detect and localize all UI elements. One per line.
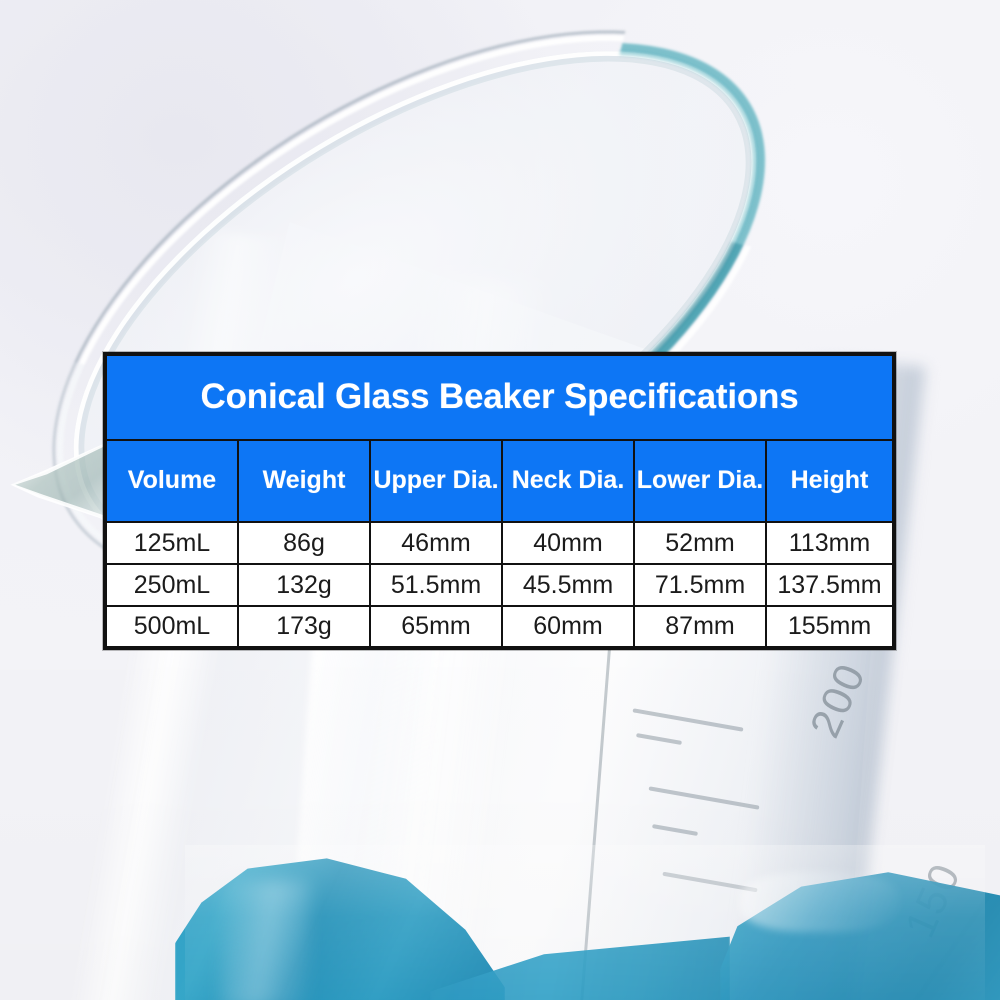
table-row: 500mL 173g 65mm 60mm 87mm 155mm bbox=[105, 606, 894, 648]
cell-neck-dia: 45.5mm bbox=[502, 564, 634, 606]
table-title-row: Conical Glass Beaker Specifications bbox=[105, 354, 894, 440]
table-row: 125mL 86g 46mm 40mm 52mm 113mm bbox=[105, 522, 894, 564]
cell-height: 137.5mm bbox=[766, 564, 894, 606]
cell-neck-dia: 60mm bbox=[502, 606, 634, 648]
cell-lower-dia: 71.5mm bbox=[634, 564, 766, 606]
cell-volume: 125mL bbox=[105, 522, 238, 564]
cell-upper-dia: 65mm bbox=[370, 606, 502, 648]
specifications-table: Conical Glass Beaker Specifications Volu… bbox=[103, 352, 896, 650]
cell-height: 155mm bbox=[766, 606, 894, 648]
cell-weight: 86g bbox=[238, 522, 370, 564]
column-header-lower-dia: Lower Dia. bbox=[634, 440, 766, 522]
blue-glove-left-highlight bbox=[220, 880, 310, 1000]
table-title: Conical Glass Beaker Specifications bbox=[105, 354, 894, 440]
cell-height: 113mm bbox=[766, 522, 894, 564]
cell-volume: 250mL bbox=[105, 564, 238, 606]
column-header-neck-dia: Neck Dia. bbox=[502, 440, 634, 522]
cell-weight: 132g bbox=[238, 564, 370, 606]
cell-lower-dia: 52mm bbox=[634, 522, 766, 564]
table-row: 250mL 132g 51.5mm 45.5mm 71.5mm 137.5mm bbox=[105, 564, 894, 606]
cell-lower-dia: 87mm bbox=[634, 606, 766, 648]
column-header-weight: Weight bbox=[238, 440, 370, 522]
cell-volume: 500mL bbox=[105, 606, 238, 648]
cell-upper-dia: 51.5mm bbox=[370, 564, 502, 606]
cell-weight: 173g bbox=[238, 606, 370, 648]
column-header-height: Height bbox=[766, 440, 894, 522]
cell-upper-dia: 46mm bbox=[370, 522, 502, 564]
cell-neck-dia: 40mm bbox=[502, 522, 634, 564]
table-header-row: Volume Weight Upper Dia. Neck Dia. Lower… bbox=[105, 440, 894, 522]
column-header-upper-dia: Upper Dia. bbox=[370, 440, 502, 522]
column-header-volume: Volume bbox=[105, 440, 238, 522]
blue-glove-right-highlight bbox=[740, 872, 900, 932]
